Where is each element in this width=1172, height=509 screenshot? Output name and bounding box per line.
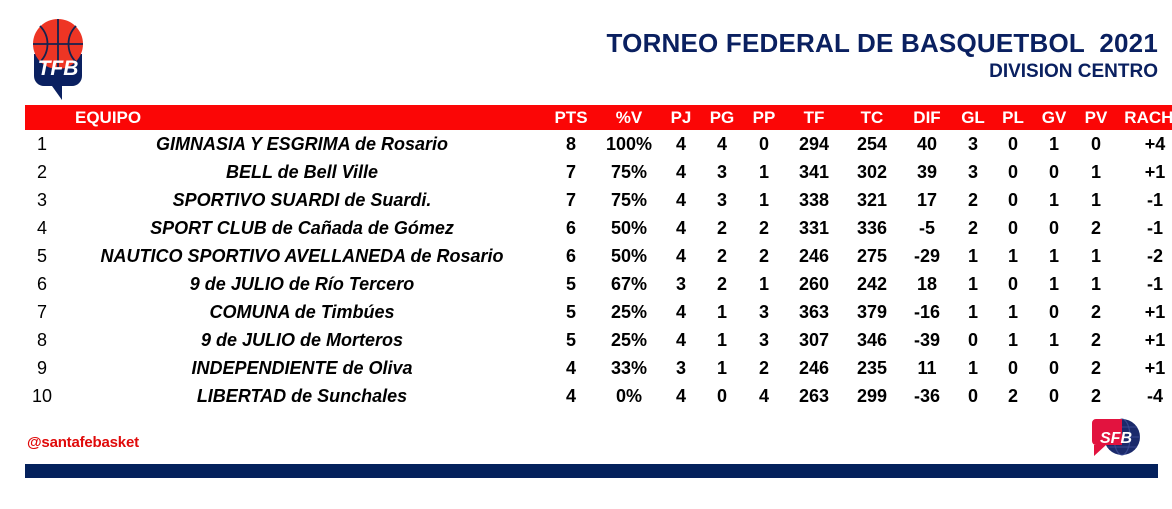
cell-racha: -4 bbox=[1117, 382, 1172, 410]
cell-pj: 4 bbox=[661, 130, 701, 158]
cell-pg: 1 bbox=[701, 298, 743, 326]
sfb-logo: SFB bbox=[1086, 415, 1142, 463]
column-header-equipo[interactable]: EQUIPO bbox=[59, 105, 545, 130]
column-header-pv[interactable]: PV bbox=[1075, 105, 1117, 130]
column-header-pp[interactable]: PP bbox=[743, 105, 785, 130]
cell-position: 3 bbox=[25, 186, 59, 214]
sfb-logo-text: SFB bbox=[1100, 430, 1132, 447]
cell-tc: 242 bbox=[843, 270, 901, 298]
cell-tf: 263 bbox=[785, 382, 843, 410]
header-row: EQUIPO PTS %V PJ PG PP TF TC DIF GL PL G… bbox=[25, 105, 1172, 130]
cell-tc: 336 bbox=[843, 214, 901, 242]
cell-dif: 39 bbox=[901, 158, 953, 186]
cell-pp: 2 bbox=[743, 214, 785, 242]
cell-position: 10 bbox=[25, 382, 59, 410]
table-row[interactable]: 2BELL de Bell Ville775%431341302393001+1 bbox=[25, 158, 1172, 186]
cell-pts: 7 bbox=[545, 158, 597, 186]
table-row[interactable]: 7COMUNA de Timbúes525%413363379-161102+1 bbox=[25, 298, 1172, 326]
cell-racha: -1 bbox=[1117, 214, 1172, 242]
tfb-logo: TFB bbox=[20, 14, 96, 100]
cell-position: 9 bbox=[25, 354, 59, 382]
cell-pp: 2 bbox=[743, 354, 785, 382]
cell-dif: 40 bbox=[901, 130, 953, 158]
cell-pp: 0 bbox=[743, 130, 785, 158]
bottom-accent-bar bbox=[25, 464, 1158, 478]
cell-pv: 50% bbox=[597, 242, 661, 270]
cell-pj: 4 bbox=[661, 242, 701, 270]
table-row[interactable]: 4SPORT CLUB de Cañada de Gómez650%422331… bbox=[25, 214, 1172, 242]
cell-pl: 0 bbox=[993, 354, 1033, 382]
cell-gv: 1 bbox=[1033, 242, 1075, 270]
standings-table-header: EQUIPO PTS %V PJ PG PP TF TC DIF GL PL G… bbox=[25, 105, 1172, 130]
column-header-pts[interactable]: PTS bbox=[545, 105, 597, 130]
cell-pl: 2 bbox=[993, 382, 1033, 410]
cell-position: 8 bbox=[25, 326, 59, 354]
cell-team-name: LIBERTAD de Sunchales bbox=[59, 382, 545, 410]
cell-pvv: 2 bbox=[1075, 326, 1117, 354]
cell-tc: 299 bbox=[843, 382, 901, 410]
cell-gl: 1 bbox=[953, 242, 993, 270]
cell-pvv: 2 bbox=[1075, 382, 1117, 410]
cell-tc: 302 bbox=[843, 158, 901, 186]
cell-pj: 3 bbox=[661, 270, 701, 298]
cell-gl: 1 bbox=[953, 270, 993, 298]
cell-position: 1 bbox=[25, 130, 59, 158]
cell-gv: 0 bbox=[1033, 382, 1075, 410]
column-header-gl[interactable]: GL bbox=[953, 105, 993, 130]
column-header-pl[interactable]: PL bbox=[993, 105, 1033, 130]
cell-team-name: NAUTICO SPORTIVO AVELLANEDA de Rosario bbox=[59, 242, 545, 270]
standings-table-body: 1GIMNASIA Y ESGRIMA de Rosario8100%44029… bbox=[25, 130, 1172, 410]
cell-pp: 3 bbox=[743, 326, 785, 354]
cell-pg: 4 bbox=[701, 130, 743, 158]
cell-pvv: 1 bbox=[1075, 270, 1117, 298]
cell-pp: 4 bbox=[743, 382, 785, 410]
cell-gl: 1 bbox=[953, 298, 993, 326]
table-row[interactable]: 5NAUTICO SPORTIVO AVELLANEDA de Rosario6… bbox=[25, 242, 1172, 270]
cell-pj: 4 bbox=[661, 186, 701, 214]
column-header-pj[interactable]: PJ bbox=[661, 105, 701, 130]
cell-pp: 1 bbox=[743, 158, 785, 186]
cell-pg: 3 bbox=[701, 158, 743, 186]
cell-pl: 1 bbox=[993, 242, 1033, 270]
cell-dif: -36 bbox=[901, 382, 953, 410]
cell-pvv: 1 bbox=[1075, 186, 1117, 214]
cell-gv: 1 bbox=[1033, 186, 1075, 214]
cell-pl: 0 bbox=[993, 130, 1033, 158]
cell-dif: -39 bbox=[901, 326, 953, 354]
cell-pvv: 2 bbox=[1075, 354, 1117, 382]
cell-pl: 1 bbox=[993, 298, 1033, 326]
column-header-tf[interactable]: TF bbox=[785, 105, 843, 130]
cell-tc: 379 bbox=[843, 298, 901, 326]
cell-team-name: GIMNASIA Y ESGRIMA de Rosario bbox=[59, 130, 545, 158]
cell-position: 5 bbox=[25, 242, 59, 270]
cell-position: 6 bbox=[25, 270, 59, 298]
cell-tf: 246 bbox=[785, 242, 843, 270]
cell-team-name: 9 de JULIO de Morteros bbox=[59, 326, 545, 354]
cell-pts: 6 bbox=[545, 214, 597, 242]
cell-tc: 275 bbox=[843, 242, 901, 270]
page-title: TORNEO FEDERAL DE BASQUETBOL 2021 bbox=[607, 28, 1158, 58]
cell-gl: 2 bbox=[953, 214, 993, 242]
cell-pvv: 2 bbox=[1075, 214, 1117, 242]
cell-gl: 3 bbox=[953, 130, 993, 158]
cell-pg: 3 bbox=[701, 186, 743, 214]
column-header-dif[interactable]: DIF bbox=[901, 105, 953, 130]
cell-racha: +1 bbox=[1117, 298, 1172, 326]
cell-racha: +1 bbox=[1117, 158, 1172, 186]
cell-pts: 7 bbox=[545, 186, 597, 214]
cell-tf: 331 bbox=[785, 214, 843, 242]
column-header-gv[interactable]: GV bbox=[1033, 105, 1075, 130]
standings-table: EQUIPO PTS %V PJ PG PP TF TC DIF GL PL G… bbox=[25, 105, 1172, 410]
cell-team-name: SPORT CLUB de Cañada de Gómez bbox=[59, 214, 545, 242]
cell-gv: 0 bbox=[1033, 298, 1075, 326]
cell-gv: 1 bbox=[1033, 270, 1075, 298]
cell-pp: 1 bbox=[743, 186, 785, 214]
table-row[interactable]: 69 de JULIO de Río Tercero567%3212602421… bbox=[25, 270, 1172, 298]
cell-gl: 0 bbox=[953, 382, 993, 410]
cell-gv: 0 bbox=[1033, 158, 1075, 186]
cell-dif: 11 bbox=[901, 354, 953, 382]
cell-pg: 1 bbox=[701, 354, 743, 382]
cell-gl: 1 bbox=[953, 354, 993, 382]
cell-gl: 3 bbox=[953, 158, 993, 186]
cell-pts: 5 bbox=[545, 270, 597, 298]
column-header-pct-v[interactable]: %V bbox=[597, 105, 661, 130]
cell-tf: 341 bbox=[785, 158, 843, 186]
cell-tc: 254 bbox=[843, 130, 901, 158]
cell-dif: -16 bbox=[901, 298, 953, 326]
column-header-tc[interactable]: TC bbox=[843, 105, 901, 130]
cell-pj: 4 bbox=[661, 298, 701, 326]
cell-pvv: 1 bbox=[1075, 158, 1117, 186]
cell-dif: 17 bbox=[901, 186, 953, 214]
cell-tf: 307 bbox=[785, 326, 843, 354]
cell-dif: -5 bbox=[901, 214, 953, 242]
cell-pts: 6 bbox=[545, 242, 597, 270]
cell-pg: 1 bbox=[701, 326, 743, 354]
cell-pl: 0 bbox=[993, 186, 1033, 214]
cell-gv: 0 bbox=[1033, 354, 1075, 382]
column-header-pg[interactable]: PG bbox=[701, 105, 743, 130]
cell-dif: 18 bbox=[901, 270, 953, 298]
cell-pj: 4 bbox=[661, 382, 701, 410]
cell-racha: +1 bbox=[1117, 326, 1172, 354]
cell-pv: 50% bbox=[597, 214, 661, 242]
cell-gv: 0 bbox=[1033, 214, 1075, 242]
cell-tf: 294 bbox=[785, 130, 843, 158]
title-block: TORNEO FEDERAL DE BASQUETBOL 2021 DIVISI… bbox=[607, 28, 1158, 84]
cell-team-name: COMUNA de Timbúes bbox=[59, 298, 545, 326]
cell-pj: 4 bbox=[661, 158, 701, 186]
cell-team-name: 9 de JULIO de Río Tercero bbox=[59, 270, 545, 298]
cell-position: 4 bbox=[25, 214, 59, 242]
cell-pl: 0 bbox=[993, 270, 1033, 298]
cell-team-name: SPORTIVO SUARDI de Suardi. bbox=[59, 186, 545, 214]
cell-gl: 2 bbox=[953, 186, 993, 214]
column-header-position[interactable] bbox=[25, 105, 59, 130]
page-subtitle: DIVISION CENTRO bbox=[607, 60, 1158, 84]
cell-pl: 0 bbox=[993, 214, 1033, 242]
column-header-racha[interactable]: RACHA bbox=[1117, 105, 1172, 130]
cell-pv: 100% bbox=[597, 130, 661, 158]
cell-pj: 3 bbox=[661, 354, 701, 382]
table-row[interactable]: 9INDEPENDIENTE de Oliva433%3122462351110… bbox=[25, 354, 1172, 382]
cell-pv: 25% bbox=[597, 326, 661, 354]
tfb-logo-text: TFB bbox=[38, 57, 79, 80]
cell-racha: +4 bbox=[1117, 130, 1172, 158]
cell-dif: -29 bbox=[901, 242, 953, 270]
cell-tc: 346 bbox=[843, 326, 901, 354]
cell-tc: 235 bbox=[843, 354, 901, 382]
cell-pp: 3 bbox=[743, 298, 785, 326]
cell-pp: 2 bbox=[743, 242, 785, 270]
cell-pj: 4 bbox=[661, 326, 701, 354]
cell-pg: 2 bbox=[701, 270, 743, 298]
cell-pg: 2 bbox=[701, 242, 743, 270]
cell-pts: 5 bbox=[545, 298, 597, 326]
cell-pts: 5 bbox=[545, 326, 597, 354]
cell-pv: 75% bbox=[597, 158, 661, 186]
cell-pv: 0% bbox=[597, 382, 661, 410]
cell-pl: 0 bbox=[993, 158, 1033, 186]
cell-tf: 363 bbox=[785, 298, 843, 326]
cell-pv: 25% bbox=[597, 298, 661, 326]
cell-pv: 67% bbox=[597, 270, 661, 298]
cell-pg: 2 bbox=[701, 214, 743, 242]
social-handle[interactable]: @santafebasket bbox=[27, 434, 139, 451]
cell-pvv: 2 bbox=[1075, 298, 1117, 326]
table-row[interactable]: 1GIMNASIA Y ESGRIMA de Rosario8100%44029… bbox=[25, 130, 1172, 158]
cell-pl: 1 bbox=[993, 326, 1033, 354]
cell-racha: -2 bbox=[1117, 242, 1172, 270]
cell-racha: -1 bbox=[1117, 186, 1172, 214]
cell-pvv: 0 bbox=[1075, 130, 1117, 158]
cell-gv: 1 bbox=[1033, 326, 1075, 354]
cell-pts: 4 bbox=[545, 354, 597, 382]
cell-tf: 260 bbox=[785, 270, 843, 298]
table-row[interactable]: 10LIBERTAD de Sunchales40%404263299-3602… bbox=[25, 382, 1172, 410]
cell-pp: 1 bbox=[743, 270, 785, 298]
cell-tf: 246 bbox=[785, 354, 843, 382]
cell-team-name: BELL de Bell Ville bbox=[59, 158, 545, 186]
cell-tf: 338 bbox=[785, 186, 843, 214]
table-row[interactable]: 3SPORTIVO SUARDI de Suardi.775%431338321… bbox=[25, 186, 1172, 214]
cell-position: 7 bbox=[25, 298, 59, 326]
table-row[interactable]: 89 de JULIO de Morteros525%413307346-390… bbox=[25, 326, 1172, 354]
cell-pv: 33% bbox=[597, 354, 661, 382]
cell-tc: 321 bbox=[843, 186, 901, 214]
cell-pg: 0 bbox=[701, 382, 743, 410]
cell-pv: 75% bbox=[597, 186, 661, 214]
cell-pvv: 1 bbox=[1075, 242, 1117, 270]
cell-position: 2 bbox=[25, 158, 59, 186]
cell-pts: 4 bbox=[545, 382, 597, 410]
cell-racha: -1 bbox=[1117, 270, 1172, 298]
cell-pj: 4 bbox=[661, 214, 701, 242]
cell-racha: +1 bbox=[1117, 354, 1172, 382]
cell-gl: 0 bbox=[953, 326, 993, 354]
cell-pts: 8 bbox=[545, 130, 597, 158]
cell-gv: 1 bbox=[1033, 130, 1075, 158]
cell-team-name: INDEPENDIENTE de Oliva bbox=[59, 354, 545, 382]
